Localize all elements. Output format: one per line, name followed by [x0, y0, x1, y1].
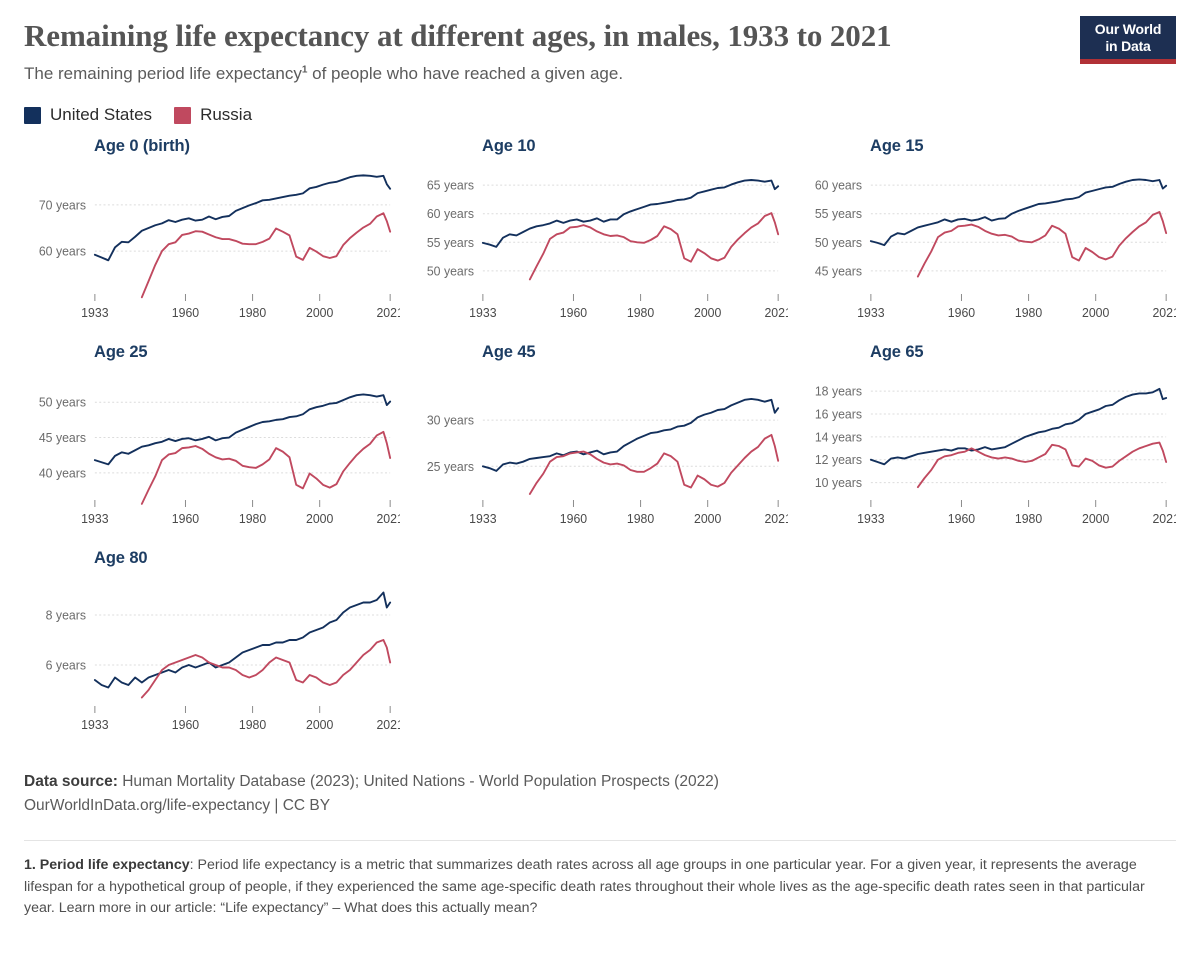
owid-logo-line1: Our World: [1080, 21, 1176, 38]
x-axis-tick-label: 2021: [1152, 512, 1176, 526]
panel-plot-area[interactable]: 25 years30 years19331960198020002021: [412, 366, 788, 534]
panel-title: Age 65: [870, 343, 1176, 362]
y-axis-tick-label: 40 years: [39, 466, 86, 480]
data-source-label: Data source:: [24, 773, 118, 790]
legend-item-label: United States: [50, 105, 152, 125]
x-axis-tick-label: 2000: [306, 718, 333, 732]
y-axis-tick-label: 6 years: [46, 658, 86, 672]
y-axis-tick-label: 50 years: [39, 396, 86, 410]
y-axis-tick-label: 8 years: [46, 608, 86, 622]
legend-swatch-icon: [174, 107, 191, 124]
panel-plot-area[interactable]: 45 years50 years55 years60 years19331960…: [800, 160, 1176, 328]
x-axis-tick-label: 1980: [239, 512, 266, 526]
x-axis-tick-label: 1960: [948, 512, 975, 526]
license-line[interactable]: OurWorldInData.org/life-expectancy | CC …: [24, 794, 1176, 818]
x-axis-tick-label: 1980: [239, 718, 266, 732]
chart-panel-age-10: Age 1050 years55 years60 years65 years19…: [412, 137, 788, 343]
panel-title: Age 10: [482, 137, 788, 156]
y-axis-tick-label: 60 years: [427, 207, 474, 221]
x-axis-tick-label: 1960: [560, 306, 587, 320]
series-line-russia: [530, 435, 778, 494]
legend-item-russia[interactable]: Russia: [174, 105, 252, 125]
x-axis-tick-label: 2000: [694, 512, 721, 526]
y-axis-tick-label: 16 years: [815, 407, 862, 421]
y-axis-tick-label: 60 years: [39, 244, 86, 258]
series-line-united-states: [95, 175, 390, 260]
chart-page: Remaining life expectancy at different a…: [0, 0, 1200, 954]
x-axis-tick-label: 1960: [172, 306, 199, 320]
series-line-russia: [530, 213, 778, 279]
chart-header: Remaining life expectancy at different a…: [24, 0, 1176, 86]
subtitle-text: The remaining period life expectancy: [24, 64, 302, 83]
series-line-united-states: [95, 394, 390, 464]
x-axis-tick-label: 2000: [306, 306, 333, 320]
series-line-united-states: [871, 389, 1166, 464]
x-axis-tick-label: 1980: [239, 306, 266, 320]
x-axis-tick-label: 1960: [560, 512, 587, 526]
legend-item-united-states[interactable]: United States: [24, 105, 152, 125]
y-axis-tick-label: 50 years: [427, 264, 474, 278]
x-axis-tick-label: 2000: [694, 306, 721, 320]
panel-plot-area[interactable]: 10 years12 years14 years16 years18 years…: [800, 366, 1176, 534]
x-axis-tick-label: 1980: [1015, 512, 1042, 526]
y-axis-tick-label: 10 years: [815, 476, 862, 490]
panel-title: Age 15: [870, 137, 1176, 156]
x-axis-tick-label: 1980: [627, 512, 654, 526]
y-axis-tick-label: 25 years: [427, 460, 474, 474]
x-axis-tick-label: 1933: [81, 718, 108, 732]
x-axis-tick-label: 1933: [81, 512, 108, 526]
x-axis-tick-label: 2021: [1152, 306, 1176, 320]
subtitle-text-tail: of people who have reached a given age.: [307, 64, 623, 83]
chart-panel-age-65: Age 6510 years12 years14 years16 years18…: [800, 343, 1176, 549]
y-axis-tick-label: 12 years: [815, 453, 862, 467]
legend-swatch-icon: [24, 107, 41, 124]
panel-title: Age 80: [94, 549, 400, 568]
x-axis-tick-label: 2021: [376, 512, 400, 526]
y-axis-tick-label: 55 years: [427, 236, 474, 250]
x-axis-tick-label: 1980: [627, 306, 654, 320]
series-line-russia: [142, 213, 390, 297]
x-axis-tick-label: 1933: [469, 512, 496, 526]
footnote-number: 1.: [24, 857, 36, 873]
small-multiples-grid: Age 0 (birth)60 years70 years19331960198…: [24, 137, 1176, 755]
chart-panel-age-25: Age 2540 years45 years50 years1933196019…: [24, 343, 400, 549]
legend-item-label: Russia: [200, 105, 252, 125]
y-axis-tick-label: 65 years: [427, 179, 474, 193]
y-axis-tick-label: 70 years: [39, 198, 86, 212]
panel-title: Age 0 (birth): [94, 137, 400, 156]
series-line-united-states: [483, 399, 778, 471]
x-axis-tick-label: 2021: [764, 512, 788, 526]
x-axis-tick-label: 1933: [857, 512, 884, 526]
series-line-russia: [142, 432, 390, 504]
y-axis-tick-label: 45 years: [815, 264, 862, 278]
page-title: Remaining life expectancy at different a…: [24, 16, 1176, 56]
chart-panel-age-15: Age 1545 years50 years55 years60 years19…: [800, 137, 1176, 343]
panel-title: Age 25: [94, 343, 400, 362]
series-line-united-states: [871, 179, 1166, 245]
footer-divider: [24, 840, 1176, 841]
page-subtitle: The remaining period life expectancy1 of…: [24, 62, 1176, 86]
x-axis-tick-label: 1980: [1015, 306, 1042, 320]
y-axis-tick-label: 30 years: [427, 414, 474, 428]
panel-plot-area[interactable]: 6 years8 years19331960198020002021: [24, 572, 400, 740]
x-axis-tick-label: 2000: [1082, 512, 1109, 526]
x-axis-tick-label: 2000: [1082, 306, 1109, 320]
y-axis-tick-label: 60 years: [815, 179, 862, 193]
owid-logo[interactable]: Our World in Data: [1080, 16, 1176, 64]
y-axis-tick-label: 14 years: [815, 430, 862, 444]
panel-title: Age 45: [482, 343, 788, 362]
chart-legend: United StatesRussia: [24, 103, 1176, 127]
panel-plot-area[interactable]: 60 years70 years19331960198020002021: [24, 160, 400, 328]
x-axis-tick-label: 1960: [172, 718, 199, 732]
y-axis-tick-label: 50 years: [815, 236, 862, 250]
footnote-text: : Period life expectancy is a metric tha…: [24, 857, 1145, 916]
panel-plot-area[interactable]: 50 years55 years60 years65 years19331960…: [412, 160, 788, 328]
x-axis-tick-label: 2021: [764, 306, 788, 320]
x-axis-tick-label: 2000: [306, 512, 333, 526]
series-line-russia: [918, 212, 1166, 277]
y-axis-tick-label: 55 years: [815, 207, 862, 221]
x-axis-tick-label: 1960: [948, 306, 975, 320]
data-source: Data source: Human Mortality Database (2…: [24, 770, 1176, 794]
x-axis-tick-label: 1933: [81, 306, 108, 320]
chart-panel-age-80: Age 806 years8 years19331960198020002021: [24, 549, 400, 755]
chart-footer: Data source: Human Mortality Database (2…: [24, 770, 1176, 920]
y-axis-tick-label: 45 years: [39, 431, 86, 445]
owid-logo-line2: in Data: [1080, 38, 1176, 55]
x-axis-tick-label: 1933: [469, 306, 496, 320]
x-axis-tick-label: 1933: [857, 306, 884, 320]
footnote-term: Period life expectancy: [40, 857, 190, 873]
panel-plot-area[interactable]: 40 years45 years50 years1933196019802000…: [24, 366, 400, 534]
x-axis-tick-label: 2021: [376, 306, 400, 320]
data-source-text: Human Mortality Database (2023); United …: [122, 773, 719, 790]
chart-panel-age-45: Age 4525 years30 years193319601980200020…: [412, 343, 788, 549]
y-axis-tick-label: 18 years: [815, 385, 862, 399]
footnote: 1. Period life expectancy: Period life e…: [24, 855, 1176, 920]
x-axis-tick-label: 1960: [172, 512, 199, 526]
chart-panel-age-0-birth: Age 0 (birth)60 years70 years19331960198…: [24, 137, 400, 343]
x-axis-tick-label: 2021: [376, 718, 400, 732]
